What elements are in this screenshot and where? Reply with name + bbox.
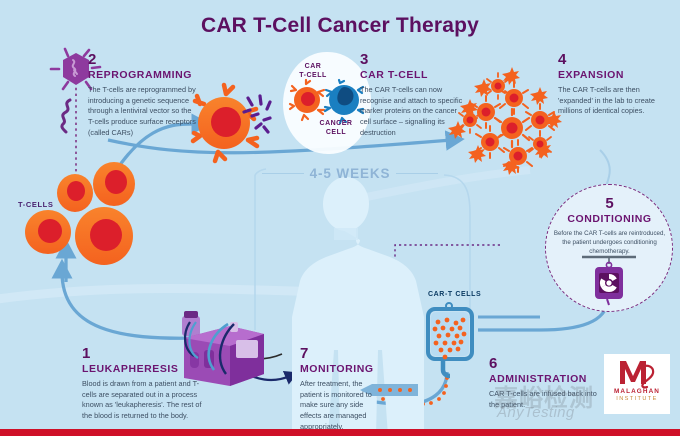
step-body: Blood is drawn from a patient and T-cell… <box>82 379 212 422</box>
step-body: After treatment, the patient is monitore… <box>300 379 386 433</box>
infographic-canvas: CAR T-Cell Cancer Therapy <box>0 0 680 436</box>
step-conditioning: 5 CONDITIONING Before the CAR T-cells ar… <box>551 196 668 257</box>
step-reprogramming: 2 REPROGRAMMING The T-cells are reprogra… <box>88 52 198 138</box>
t-cells-label: T-CELLS <box>18 200 53 209</box>
cart-cells-label: CAR-T CELLS <box>428 291 481 298</box>
timeline-line-left <box>262 173 304 175</box>
step-heading: EXPANSION <box>558 69 664 82</box>
inset-car-t-cell-label: CAR T-CELL <box>286 62 340 80</box>
step-number: 7 <box>300 346 386 362</box>
step-heading: CAR T-CELL <box>360 69 464 82</box>
page-title: CAR T-Cell Cancer Therapy <box>0 14 680 38</box>
t-cell-icon <box>8 158 142 272</box>
step-leukapheresis: 1 LEUKAPHERESIS Blood is drawn from a pa… <box>82 346 212 422</box>
step-number: 2 <box>88 52 198 68</box>
chemo-iv-bag-icon <box>578 252 640 308</box>
inset-cancer-cell-label: CANCER CELL <box>306 119 366 137</box>
inset-car-t-cell-label-line2: T-CELL <box>286 71 340 80</box>
step-number: 5 <box>551 196 668 212</box>
step-number: 3 <box>360 52 464 68</box>
logo-monogram-icon <box>617 357 657 387</box>
car-t-cell-icon <box>192 82 284 166</box>
cart-iv-bag-icon <box>414 300 484 378</box>
step-number: 6 <box>489 356 597 372</box>
timeline-label: 4-5 WEEKS <box>310 166 391 181</box>
logo-line1: MALAGHAN <box>614 388 660 395</box>
step-heading: REPROGRAMMING <box>88 69 198 82</box>
inset-cancer-cell-label-line1: CANCER <box>306 119 366 128</box>
logo-line2: INSTITUTE <box>616 396 658 402</box>
malaghan-institute-logo: MALAGHAN INSTITUTE <box>604 354 670 414</box>
step-number: 1 <box>82 346 212 362</box>
step-heading: MONITORING <box>300 363 386 376</box>
bottom-accent-bar <box>0 429 680 436</box>
inset-car-t-cell-label-line1: CAR <box>286 62 340 71</box>
watermark-english: AnyTesting <box>497 404 575 421</box>
step-heading: LEUKAPHERESIS <box>82 363 212 376</box>
step-number: 4 <box>558 52 664 68</box>
inset-cancer-cell-label-line2: CELL <box>306 128 366 137</box>
step-body: The CAR T-cells are then 'expanded' in t… <box>558 85 664 117</box>
step-body: The CAR T-cells can now recognise and at… <box>360 85 464 139</box>
inset-cells-icon <box>290 80 366 124</box>
step-body: Before the CAR T-cells are reintroduced,… <box>551 229 668 257</box>
step-expansion: 4 EXPANSION The CAR T-cells are then 'ex… <box>558 52 664 117</box>
expansion-cell-cluster-icon <box>452 64 572 170</box>
genetic-sequence-icon <box>56 98 82 136</box>
timeline-line-right <box>396 173 438 175</box>
step-heading: CONDITIONING <box>551 213 668 226</box>
step-body: The T-cells are reprogrammed by introduc… <box>88 85 198 139</box>
step-car-t-cell: 3 CAR T-CELL The CAR T-cells can now rec… <box>360 52 464 138</box>
step-monitoring: 7 MONITORING After treatment, the patien… <box>300 346 386 432</box>
timeline-label-group: 4-5 WEEKS <box>262 166 438 181</box>
